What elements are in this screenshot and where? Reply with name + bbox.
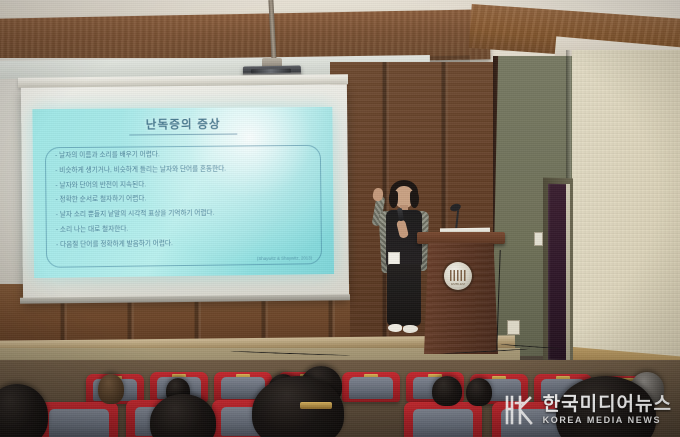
hair-clip: [300, 402, 332, 409]
presenter-hair-right: [410, 191, 419, 208]
slide-bullet: - 날자와 단어의 반전이 지속된다.: [55, 180, 313, 189]
lecture-hall-photo: 난독증의 증상 - 날자의 이름과 소리를 배우기 어렵다. - 비슷하게 생기…: [0, 0, 680, 437]
projected-slide: 난독증의 증상 - 날자의 이름과 소리를 배우기 어렵다. - 비슷하게 생기…: [32, 107, 334, 278]
audience-seating-area: [0, 360, 680, 437]
presenter-skirt: [387, 264, 421, 326]
presenter-shoe-left: [388, 324, 402, 332]
presenter-hair-left: [389, 191, 398, 208]
podium-emblem-text: EMBLEM: [444, 282, 472, 286]
door-edge-highlight: [566, 184, 570, 360]
wall-outlet: [507, 320, 520, 335]
presenter-shoe-right: [403, 325, 418, 333]
audience-head: [466, 378, 492, 406]
slide-bullet-list: - 날자의 이름과 소리를 배우기 어렵다. - 비슷하게 생기거나, 비슷하게…: [55, 151, 314, 257]
slide-bullet: - 다음절 단어를 정확하게 발음하기 어렵다.: [56, 239, 314, 249]
audience-head: [98, 374, 124, 404]
slide-bullet: - 정확한 순서로 철자하기 어렵다.: [56, 195, 314, 204]
podium-top-surface: [417, 232, 505, 244]
podium-emblem: EMBLEM: [444, 262, 472, 290]
seat-back: [349, 377, 393, 399]
podium-body: [424, 243, 498, 354]
seat[interactable]: [342, 372, 400, 402]
slide-bullet: - 비슷하게 생기거나, 비슷하게 들리는 날자와 단어를 혼동한다.: [55, 166, 313, 175]
slide-bullet: - 소리 나는 대로 철자한다.: [56, 224, 314, 234]
seat[interactable]: [404, 402, 482, 437]
seat-back: [413, 409, 472, 437]
slide-bullet: - 날자의 이름과 소리를 배우기 어렵다.: [55, 151, 313, 160]
light-switch[interactable]: [534, 232, 543, 246]
audience-head: [0, 384, 48, 437]
slide-title-underline: [129, 134, 237, 136]
slide-bullet: - 날자 소리 뿐들지 낱말의 시각적 표상을 기억하기 어렵다.: [56, 210, 314, 219]
slide-title: 난독증의 증상: [32, 115, 332, 133]
slide-citation: (Shaywitz & Shaywitz, 2013): [257, 255, 312, 261]
wooden-podium: EMBLEM: [420, 232, 502, 354]
audience-head: [432, 376, 462, 406]
podium-emblem-crest: [450, 270, 466, 281]
beige-wall-panel: [572, 50, 680, 370]
seat[interactable]: [40, 402, 118, 437]
seat-back: [501, 409, 560, 437]
seat-back: [49, 409, 108, 437]
